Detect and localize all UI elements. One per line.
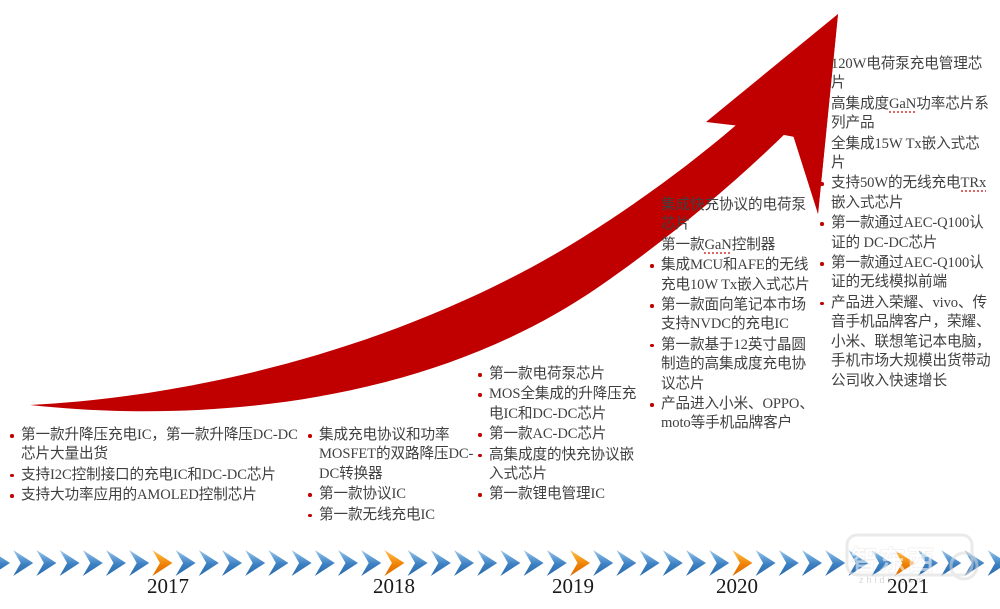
timeline-chevron (802, 550, 822, 576)
list-item: 集成MCU和AFE的无线充电10W Tx嵌入式芯片 (648, 256, 816, 295)
timeline-chevron (292, 550, 312, 576)
milestone-list-2019: 第一款电荷泵芯片 MOS全集成的升降压充电IC和DC-DC芯片 第一款AC-DC… (476, 365, 646, 505)
timeline-chevron (338, 550, 358, 576)
milestone-list-2017: 第一款升降压充电IC，第一款升降压DC-DC芯片大量出货 支持I2C控制接口的充… (8, 426, 308, 506)
timeline-chevron (129, 550, 149, 576)
list-item: 第一款协议IC (306, 485, 481, 504)
timeline-chevron-marker (152, 550, 172, 576)
list-item: 产品进入荣耀、vivo、传音手机品牌客户，荣耀、小米、联想笔记本电脑，手机市场大… (818, 294, 994, 391)
list-item: 第一款面向笔记本市场支持NVDC的充电IC (648, 296, 816, 335)
timeline-chevron (222, 550, 242, 576)
timeline-chevron (663, 550, 683, 576)
milestone-list-2021: 120W电荷泵充电管理芯片 高集成度GaN功率芯片系列产品 全集成15W Tx嵌… (818, 55, 994, 391)
timeline-chevron (848, 550, 868, 576)
list-item: 第一款锂电管理IC (476, 485, 646, 504)
list-item: 第一款基于12英寸晶圆制造的高集成度充电协议芯片 (648, 336, 816, 394)
timeline-chevron (640, 550, 660, 576)
milestone-list-2018: 集成充电协议和功率MOSFET的双路降压DC-DC转换器 第一款协议IC 第一款… (306, 426, 481, 525)
spellcheck-underline: GaN (889, 96, 916, 113)
timeline-chevron (825, 550, 845, 576)
timeline-chevron (0, 550, 10, 576)
timeline-chevron (477, 550, 497, 576)
year-label-2021: 2021 (887, 574, 929, 599)
timeline-chevron-marker (384, 550, 404, 576)
timeline-chevron (988, 550, 1000, 576)
year-label-2020: 2020 (716, 574, 758, 599)
timeline-chevron (964, 550, 984, 576)
timeline-chevron (500, 550, 520, 576)
timeline-chevron (361, 550, 381, 576)
list-item: 支持大功率应用的AMOLED控制芯片 (8, 486, 308, 505)
list-item: 第一款电荷泵芯片 (476, 365, 646, 384)
list-item: 120W电荷泵充电管理芯片 (818, 55, 994, 94)
spellcheck-underline: GaN (704, 237, 731, 254)
year-label-2017: 2017 (147, 574, 189, 599)
year-label-2018: 2018 (373, 574, 415, 599)
timeline-chevron (918, 550, 938, 576)
list-item: 高集成度的快充协议嵌入式芯片 (476, 446, 646, 485)
timeline-chevron (36, 550, 56, 576)
timeline-chevron (547, 550, 567, 576)
timeline-infographic-page: 第一款升降压充电IC，第一款升降压DC-DC芯片大量出货 支持I2C控制接口的充… (0, 0, 1000, 609)
timeline-chevron (709, 550, 729, 576)
list-item: 集成快充协议的电荷泵芯片 (648, 196, 816, 235)
list-item: 全集成15W Tx嵌入式芯片 (818, 135, 994, 174)
timeline-chevron (779, 550, 799, 576)
timeline-chevron-marker (895, 550, 915, 576)
list-item: 支持I2C控制接口的充电IC和DC-DC芯片 (8, 466, 308, 485)
timeline-chevron (872, 550, 892, 576)
timeline-chevron (941, 550, 961, 576)
timeline-chevron-marker (570, 550, 590, 576)
list-item: 第一款升降压充电IC，第一款升降压DC-DC芯片大量出货 (8, 426, 308, 465)
timeline-chevron (268, 550, 288, 576)
timeline-chevron (431, 550, 451, 576)
timeline-chevron (454, 550, 474, 576)
milestone-column-2020: 集成快充协议的电荷泵芯片 第一款GaN控制器 集成MCU和AFE的无线充电10W… (648, 196, 816, 435)
timeline-chevron (60, 550, 80, 576)
timeline-chevron (756, 550, 776, 576)
timeline-chevron (686, 550, 706, 576)
timeline-year-labels: 2017 2018 2019 2020 2021 (0, 574, 1000, 604)
list-item: 集成充电协议和功率MOSFET的双路降压DC-DC转换器 (306, 426, 481, 484)
timeline-chevron (245, 550, 265, 576)
timeline-chevron (83, 550, 103, 576)
milestone-column-2018: 集成充电协议和功率MOSFET的双路降压DC-DC转换器 第一款协议IC 第一款… (306, 426, 481, 526)
list-item: 第一款通过AEC-Q100认证的无线模拟前端 (818, 254, 994, 293)
list-item: 支持50W的无线充电TRx嵌入式芯片 (818, 174, 994, 213)
year-label-2019: 2019 (552, 574, 594, 599)
timeline-chevron (408, 550, 428, 576)
milestone-column-2017: 第一款升降压充电IC，第一款升降压DC-DC芯片大量出货 支持I2C控制接口的充… (8, 426, 308, 507)
timeline-chevron (315, 550, 335, 576)
timeline-chevron (13, 550, 33, 576)
list-item: 第一款AC-DC芯片 (476, 425, 646, 444)
milestone-column-2021: 120W电荷泵充电管理芯片 高集成度GaN功率芯片系列产品 全集成15W Tx嵌… (818, 55, 994, 392)
list-item: 第一款无线充电IC (306, 506, 481, 525)
list-item: MOS全集成的升降压充电IC和DC-DC芯片 (476, 385, 646, 424)
timeline-chevron (524, 550, 544, 576)
list-item: 产品进入小米、OPPO、moto等手机品牌客户 (648, 395, 816, 434)
timeline-chevron (106, 550, 126, 576)
list-item: 高集成度GaN功率芯片系列产品 (818, 95, 994, 134)
spellcheck-underline: TRx (961, 175, 987, 192)
milestone-column-2019: 第一款电荷泵芯片 MOS全集成的升降压充电IC和DC-DC芯片 第一款AC-DC… (476, 365, 646, 506)
timeline-chevron (176, 550, 196, 576)
timeline-chevron (199, 550, 219, 576)
timeline-chevron-marker (732, 550, 752, 576)
timeline-chevron (593, 550, 613, 576)
timeline-chevron (616, 550, 636, 576)
list-item: 第一款通过AEC-Q100认证的 DC-DC芯片 (818, 214, 994, 253)
milestone-list-2020: 集成快充协议的电荷泵芯片 第一款GaN控制器 集成MCU和AFE的无线充电10W… (648, 196, 816, 434)
list-item: 第一款GaN控制器 (648, 236, 816, 255)
